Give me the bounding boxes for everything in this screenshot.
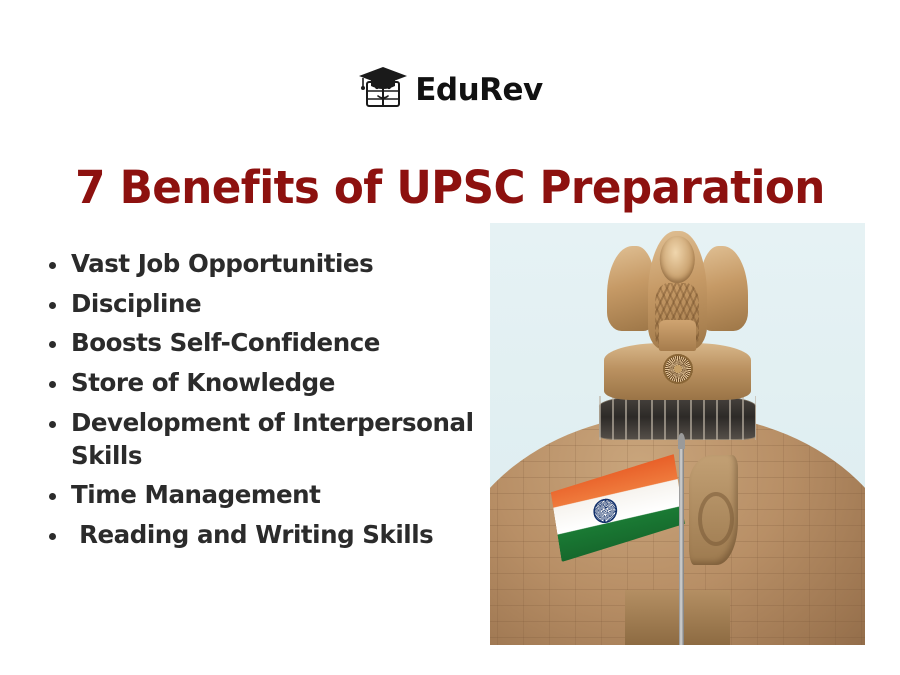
list-item: Discipline [44,288,474,321]
emblem-abacus [604,343,750,400]
brand-logo: EduRev [0,62,900,114]
list-item: Time Management [44,479,474,512]
flagpole [679,447,684,645]
list-item: Reading and Writing Skills [44,519,474,552]
page-title: 7 Benefits of UPSC Preparation [14,164,887,213]
list-item: Development of Interpersonal Skills [44,407,474,472]
dome-scroll-bracket [689,455,738,565]
glass-railing-drum [599,394,757,440]
lion-capital-of-ashoka [610,231,745,349]
lion-capital-photo [490,223,865,645]
ashoka-chakra-icon [591,496,618,525]
graduation-cap-book-mascot-icon [357,64,409,112]
list-item: Store of Knowledge [44,367,474,400]
photo-illustration [490,223,865,645]
benefits-list: Vast Job Opportunities Discipline Boosts… [44,248,474,559]
list-item: Vast Job Opportunities [44,248,474,281]
list-item: Boosts Self-Confidence [44,327,474,360]
lion-legs [659,320,697,351]
dome-plinth [625,590,730,645]
brand-logo-text: EduRev [415,75,543,106]
dharma-chakra-icon [663,354,693,384]
